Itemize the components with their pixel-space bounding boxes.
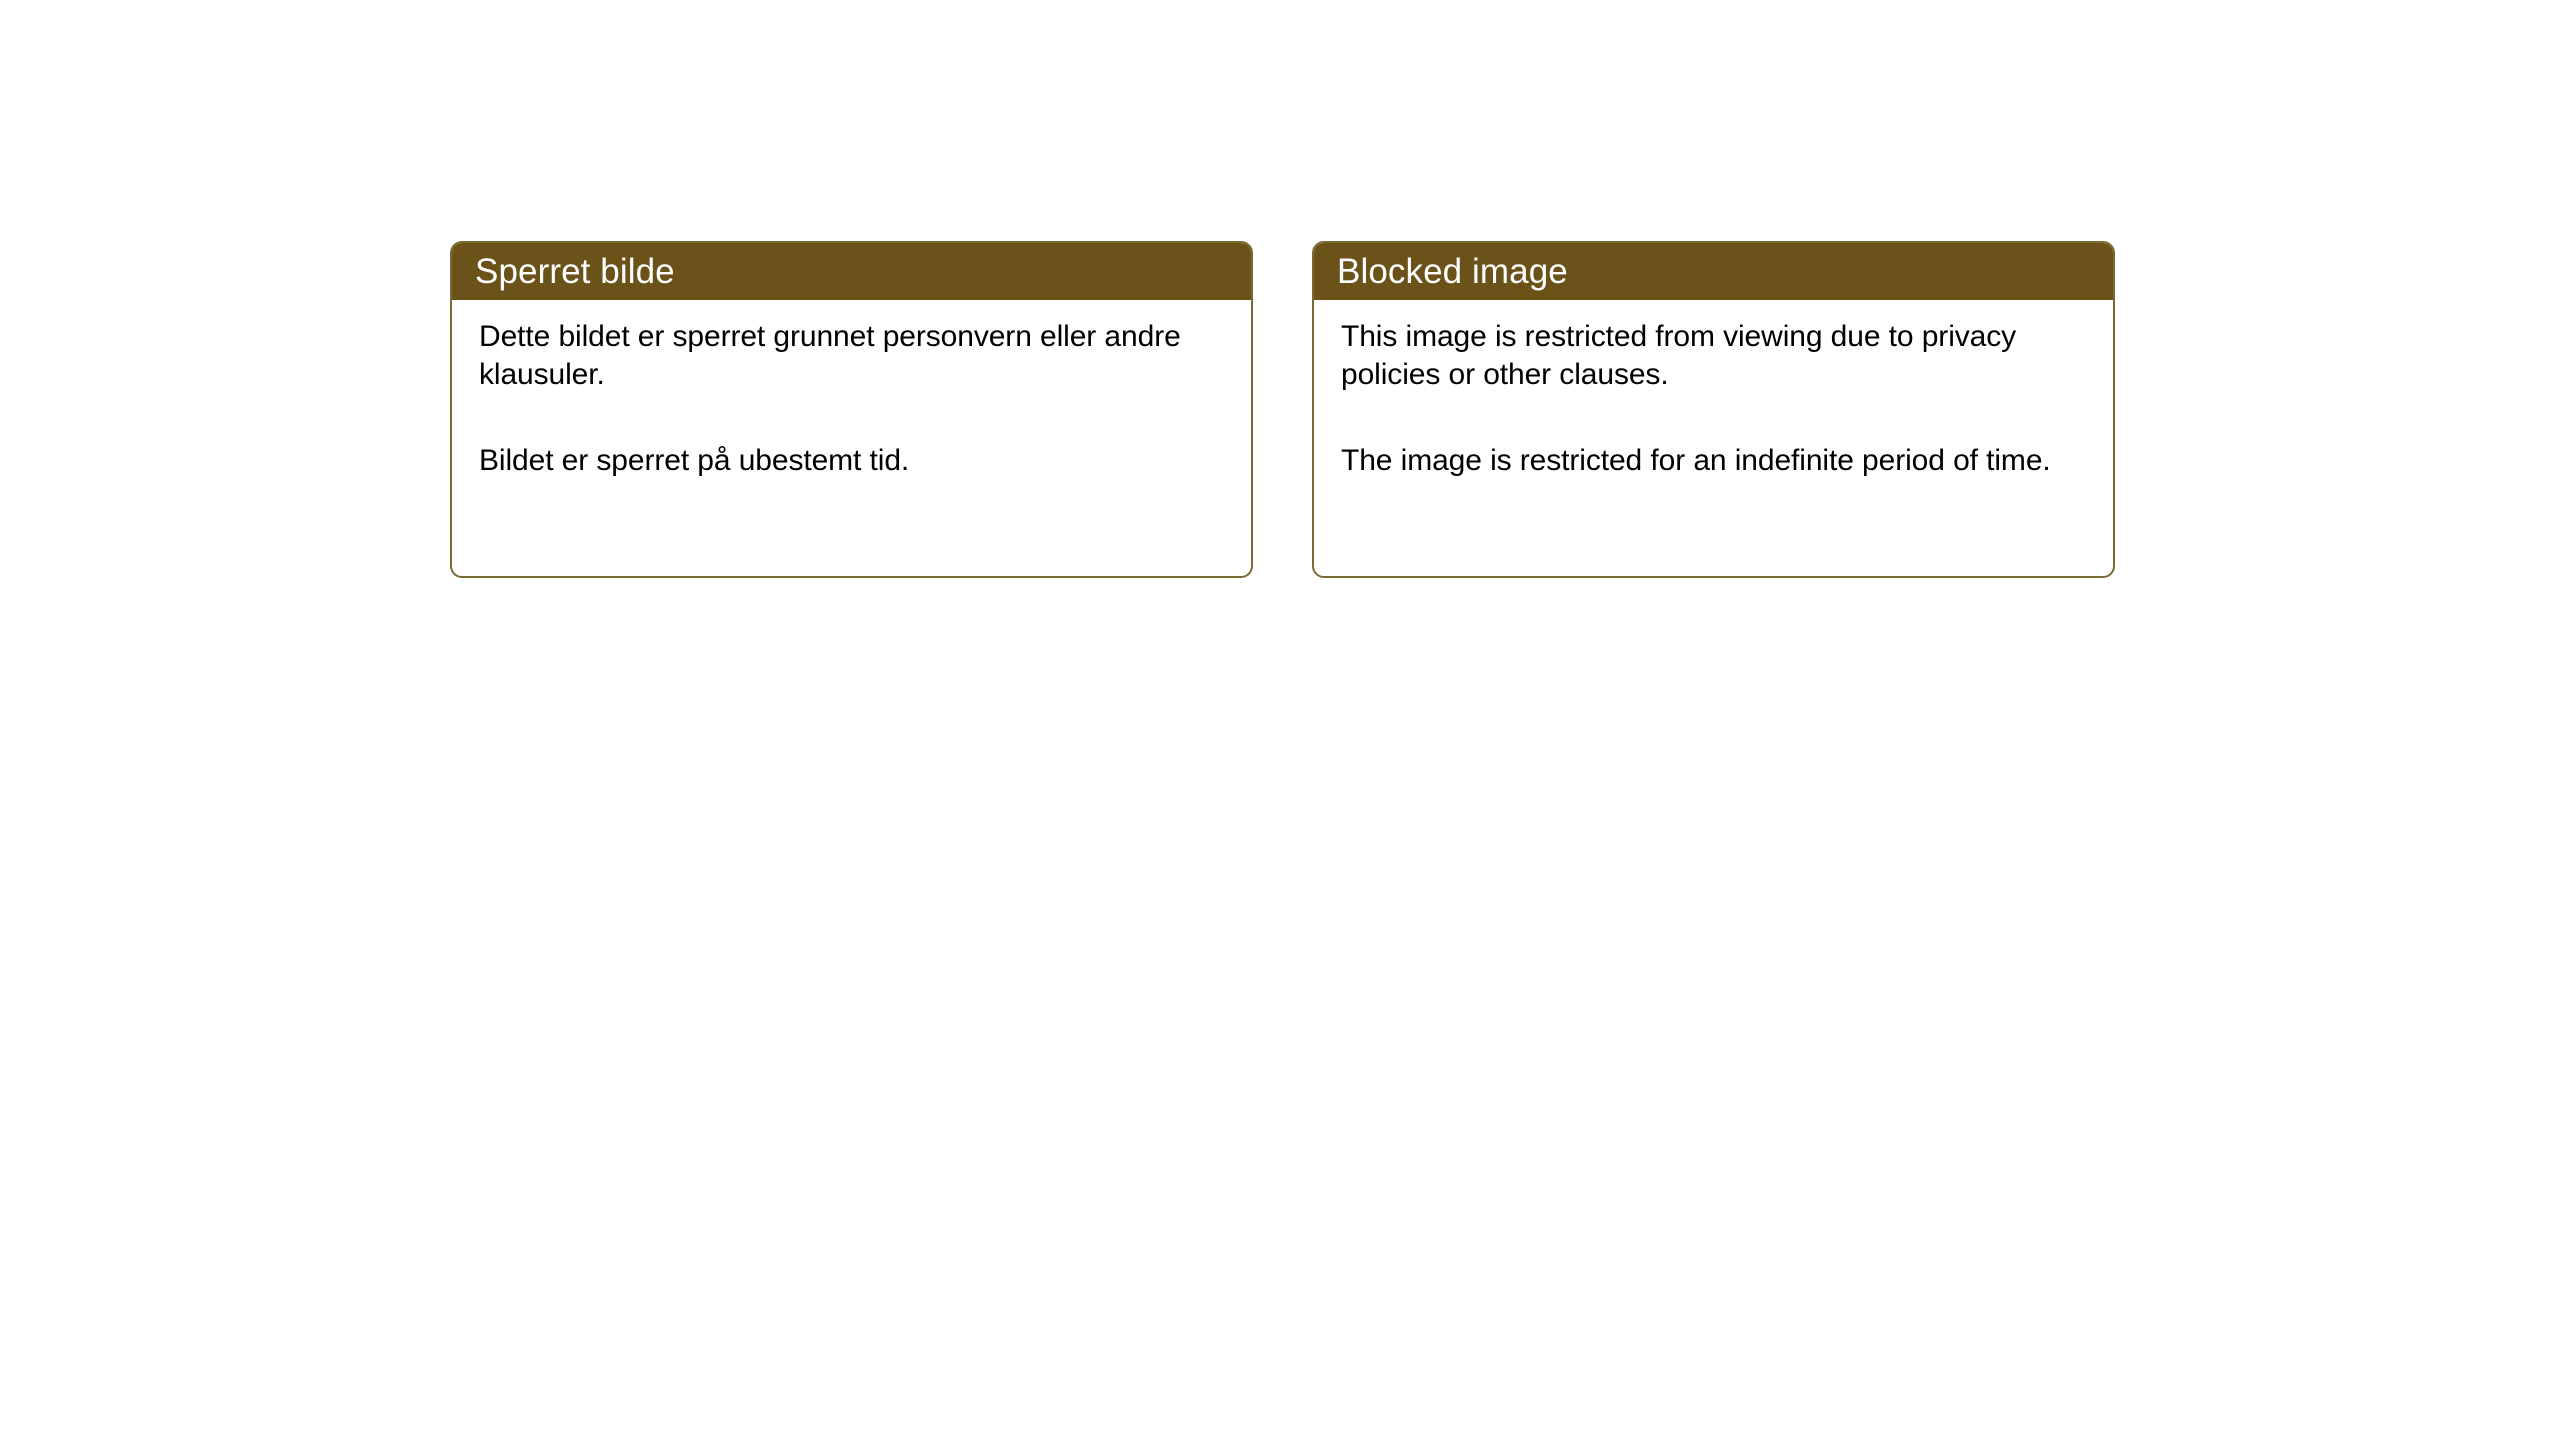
card-paragraph-primary-english: This image is restricted from viewing du… — [1341, 318, 2087, 394]
paragraph-spacer — [479, 394, 1225, 442]
card-paragraph-primary-norwegian: Dette bildet er sperret grunnet personve… — [479, 318, 1225, 394]
card-paragraph-secondary-norwegian: Bildet er sperret på ubestemt tid. — [479, 442, 1225, 480]
card-body-norwegian: Dette bildet er sperret grunnet personve… — [452, 300, 1251, 500]
card-title-english: Blocked image — [1337, 254, 1568, 289]
card-body-english: This image is restricted from viewing du… — [1314, 300, 2113, 500]
paragraph-spacer — [1341, 394, 2087, 442]
blocked-image-notice-card-english: Blocked image This image is restricted f… — [1312, 241, 2115, 578]
page-canvas: Sperret bilde Dette bildet er sperret gr… — [0, 0, 2560, 1440]
card-paragraph-secondary-english: The image is restricted for an indefinit… — [1341, 442, 2087, 480]
card-title-norwegian: Sperret bilde — [475, 254, 675, 289]
card-header-english: Blocked image — [1313, 242, 2114, 300]
card-header-norwegian: Sperret bilde — [451, 242, 1252, 300]
blocked-image-notice-card-norwegian: Sperret bilde Dette bildet er sperret gr… — [450, 241, 1253, 578]
